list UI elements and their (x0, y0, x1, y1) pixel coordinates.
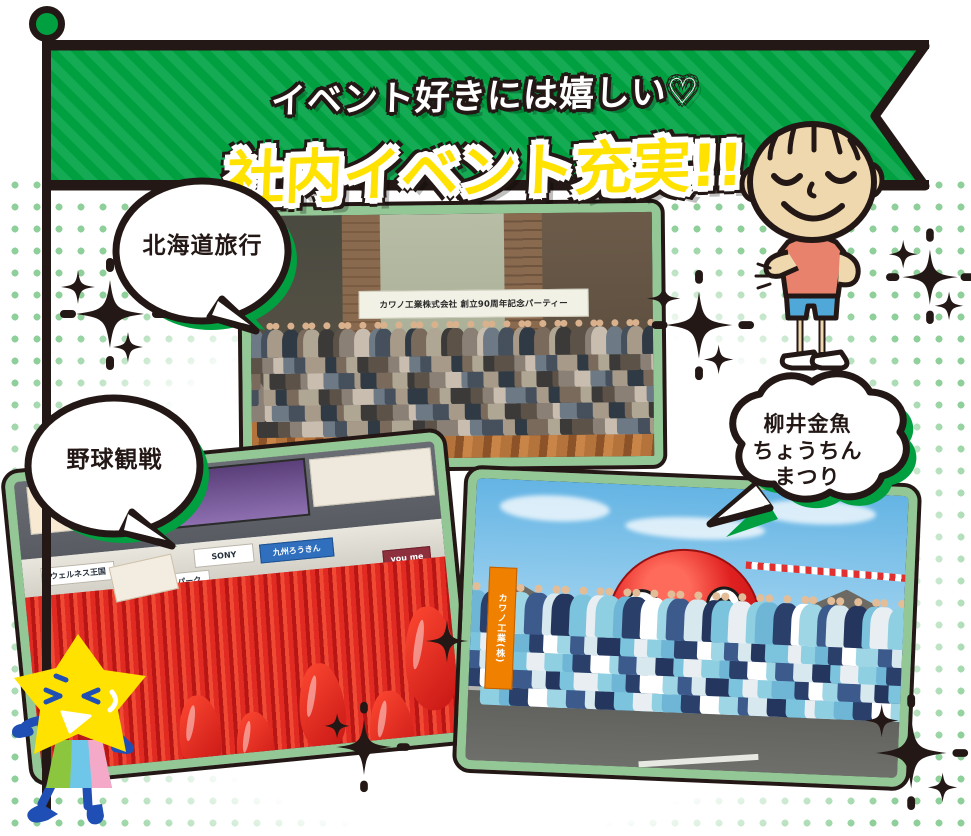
boy-mascot (722, 118, 912, 380)
poster-canvas: イベント好きには嬉しい♡ 社内イベント充実!! カワノ工業株式会社 創立90周年… (0, 0, 971, 836)
bubble-baseball[interactable]: 野球観戦 (22, 392, 207, 540)
sparkle-bottom-right (866, 688, 971, 818)
sparkle-bottom-middle (416, 610, 478, 672)
star-mascot (12, 628, 152, 828)
stadium-sign-0-text: ウェルネス王国 (50, 566, 107, 582)
company-flag: カワノ工業(株) (484, 567, 517, 690)
party-crowd (251, 304, 654, 438)
flag-pole-knob-icon (29, 6, 65, 42)
stadium-sign-rokin-text: 九州ろうきん (272, 543, 321, 559)
company-flag-text: カワノ工業(株) (493, 593, 509, 664)
festival-crowd (468, 584, 905, 722)
sparkle-left (58, 258, 178, 378)
bubble-festival[interactable]: 柳井金魚 ちょうちん まつり (700, 368, 915, 548)
sparkle-bottom-left (316, 700, 412, 796)
